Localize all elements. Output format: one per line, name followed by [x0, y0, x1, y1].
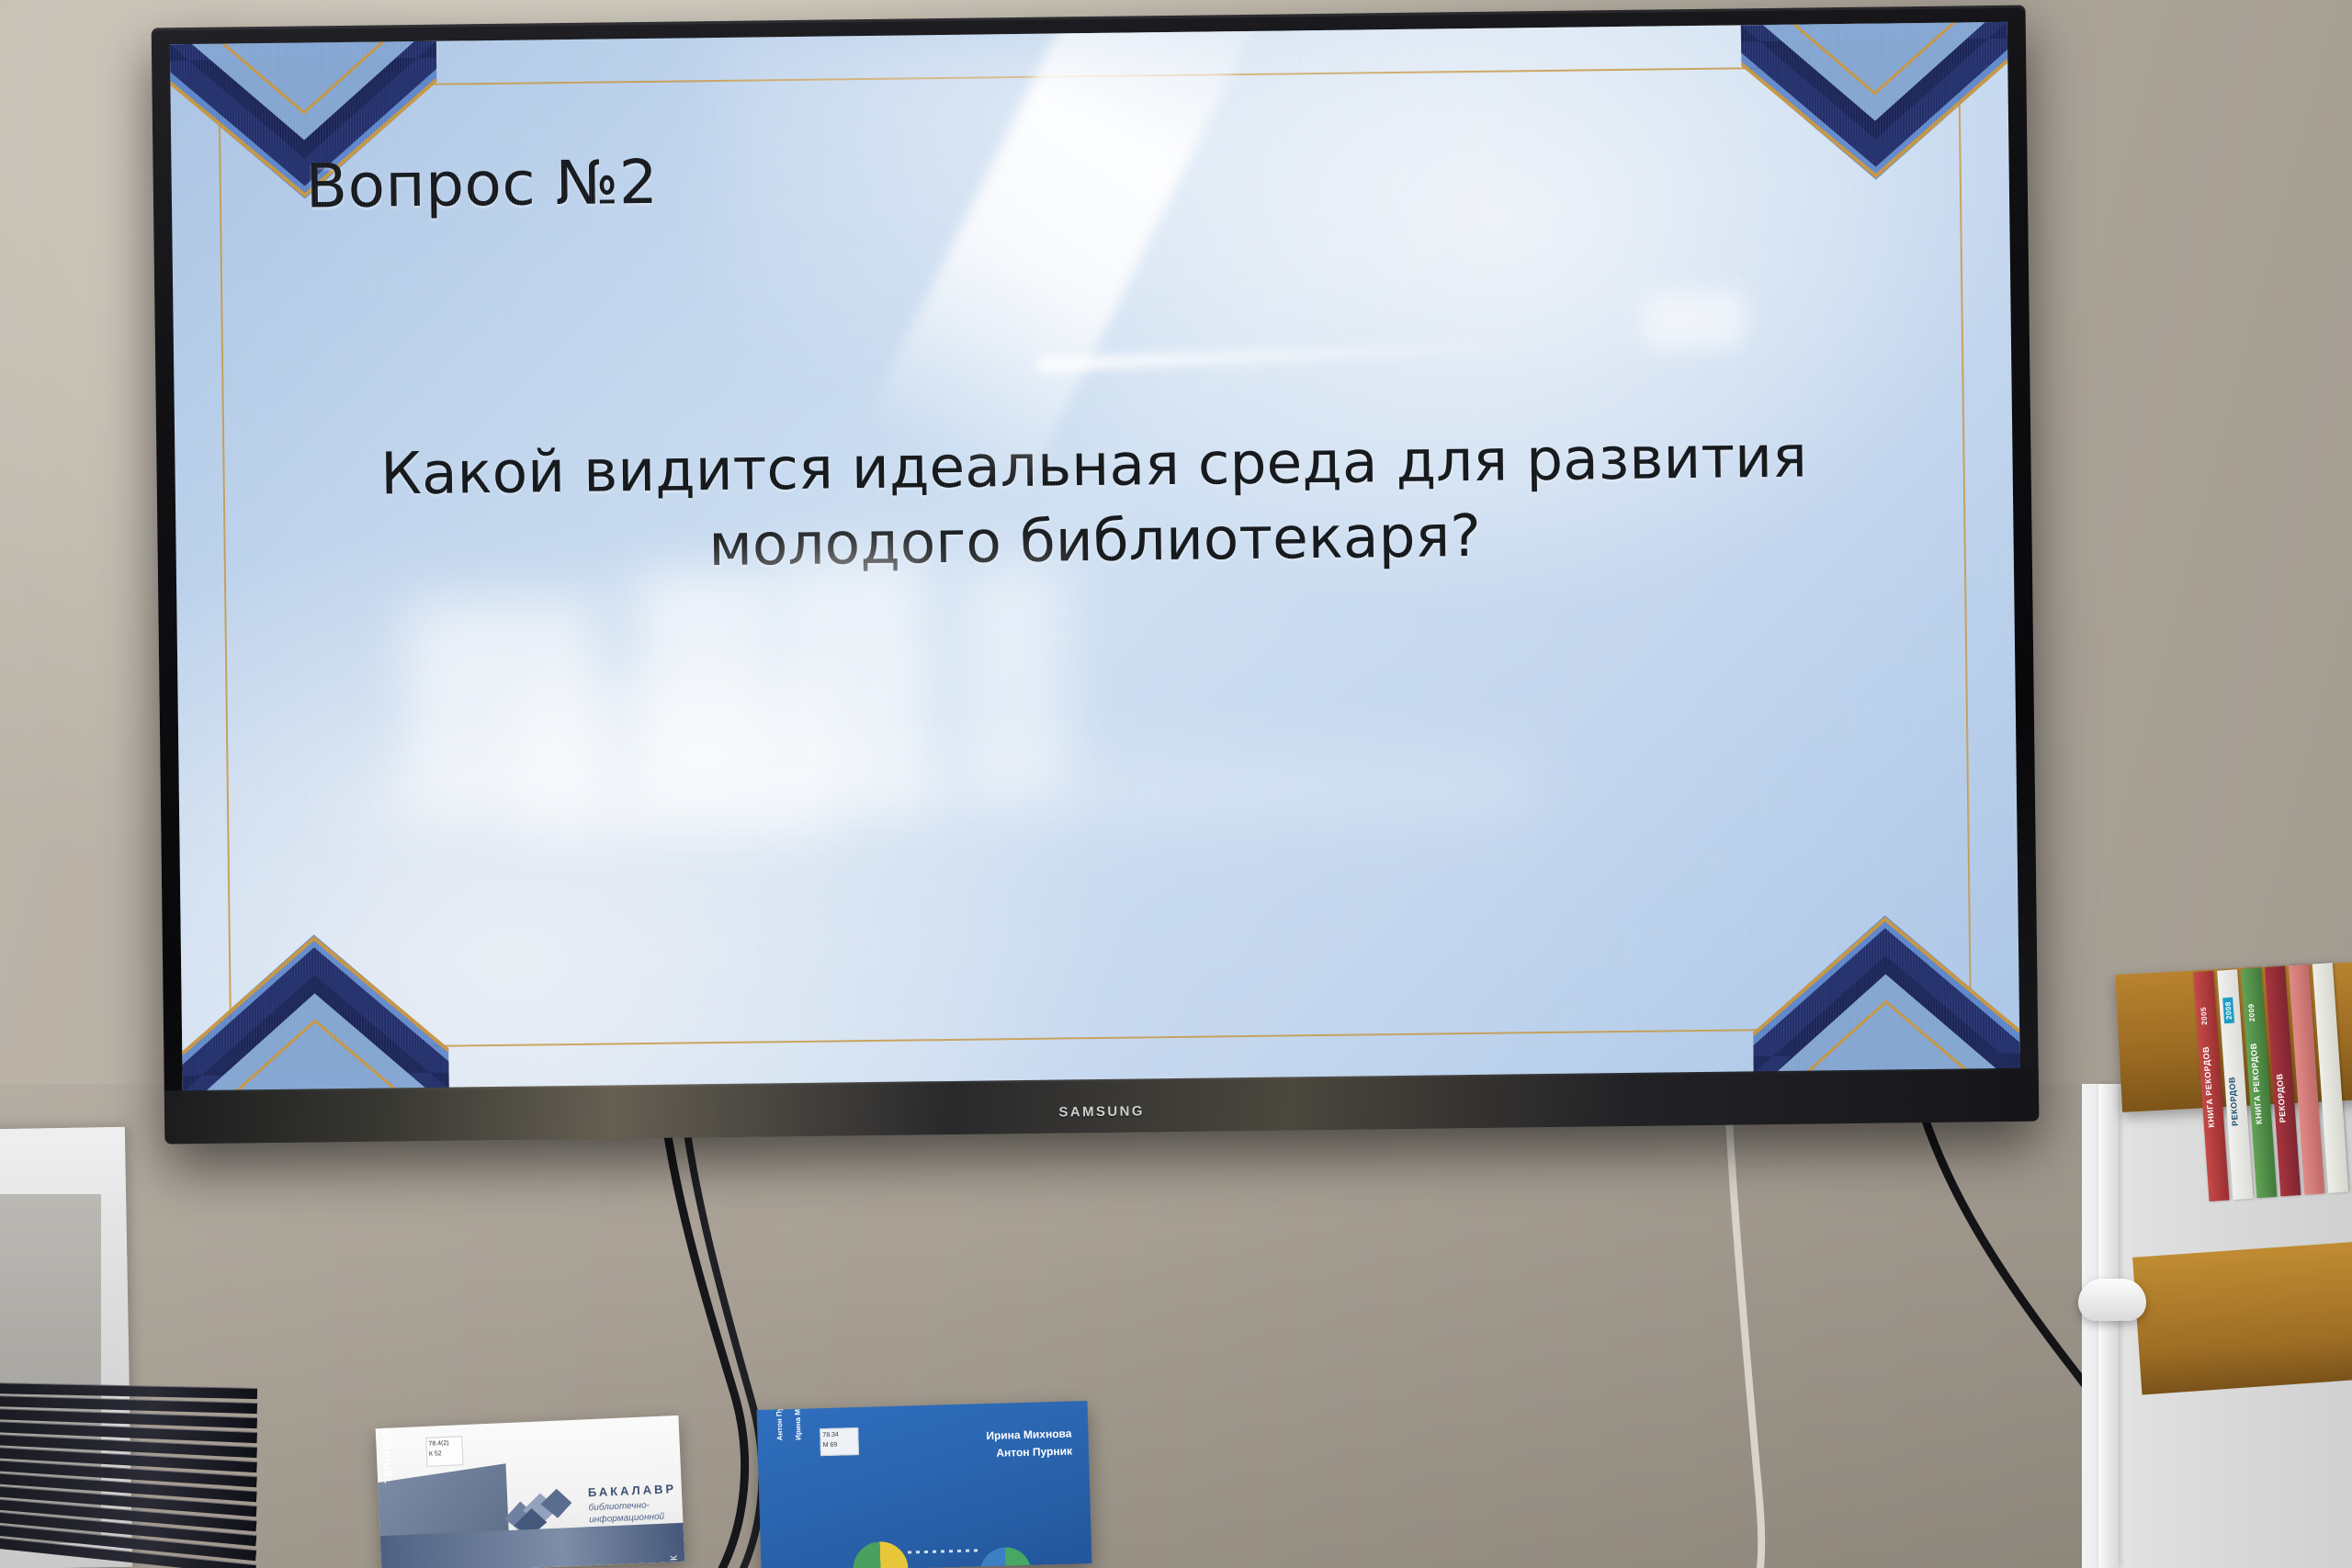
balloon-graphic [979, 1547, 1033, 1568]
television: Вопрос №2 Какой видится идеальная среда … [152, 6, 2040, 1145]
tv-bezel: Вопрос №2 Какой видится идеальная среда … [152, 6, 2040, 1145]
book-title-bakalavr: БАКАЛАВР [588, 1482, 677, 1499]
book-spine-title: КНИГА РЕКОРДОВ [2201, 1046, 2216, 1128]
balloon-graphic [853, 1541, 910, 1568]
book-authors: Ирина Михнова Антон Пурник [986, 1426, 1072, 1463]
dotted-connector-line [908, 1549, 981, 1553]
book-spine-year: 2005 [2199, 1007, 2209, 1025]
book-spine-title: РЕКОРДОВ [2227, 1077, 2240, 1126]
shelf-wooden-board-lower [2132, 1242, 2352, 1395]
right-shelf-unit: КНИГА РЕКОРДОВ 2005 РЕКОРДОВ 2008 КНИГА … [2082, 974, 2352, 1568]
book-spine-title: КНИГА РЕКОРДОВ [2249, 1043, 2264, 1124]
author-name-2: Антон Пурник [987, 1443, 1073, 1463]
library-call-number-label: 78.4(2) К 52 [425, 1436, 463, 1467]
dvd-case-stack [0, 1382, 266, 1568]
author-name-1: Ирина Михнова [986, 1426, 1072, 1446]
tv-screen: Вопрос №2 Какой видится идеальная среда … [170, 22, 2020, 1092]
samsung-brand-logo: SAMSUNG [1058, 1103, 1145, 1120]
library-call-number-label: 78.34 М 69 [820, 1427, 859, 1456]
book-spine-title: РЕКОРДОВ [2275, 1073, 2288, 1122]
call-number-line-2: М 69 [823, 1440, 856, 1451]
book-spine-year: 2009 [2247, 1003, 2256, 1021]
white-object [2078, 1279, 2146, 1321]
screen-scanlines [170, 22, 2020, 1092]
book-spine-year: 2008 [2222, 998, 2234, 1023]
record-books-row: КНИГА РЕКОРДОВ 2005 РЕКОРДОВ 2008 КНИГА … [2193, 961, 2352, 1211]
cable-white [1709, 1084, 1874, 1568]
book-bakalavr: ТЕЛЬНОСТИ БАКАЛАВР библиотечно-информаци… [376, 1416, 685, 1568]
book-blue-michnova-purnik: Ирина Михнова Антон Пурник Антон Пурник … [757, 1401, 1092, 1568]
call-number-line-2: К 52 [429, 1449, 460, 1460]
